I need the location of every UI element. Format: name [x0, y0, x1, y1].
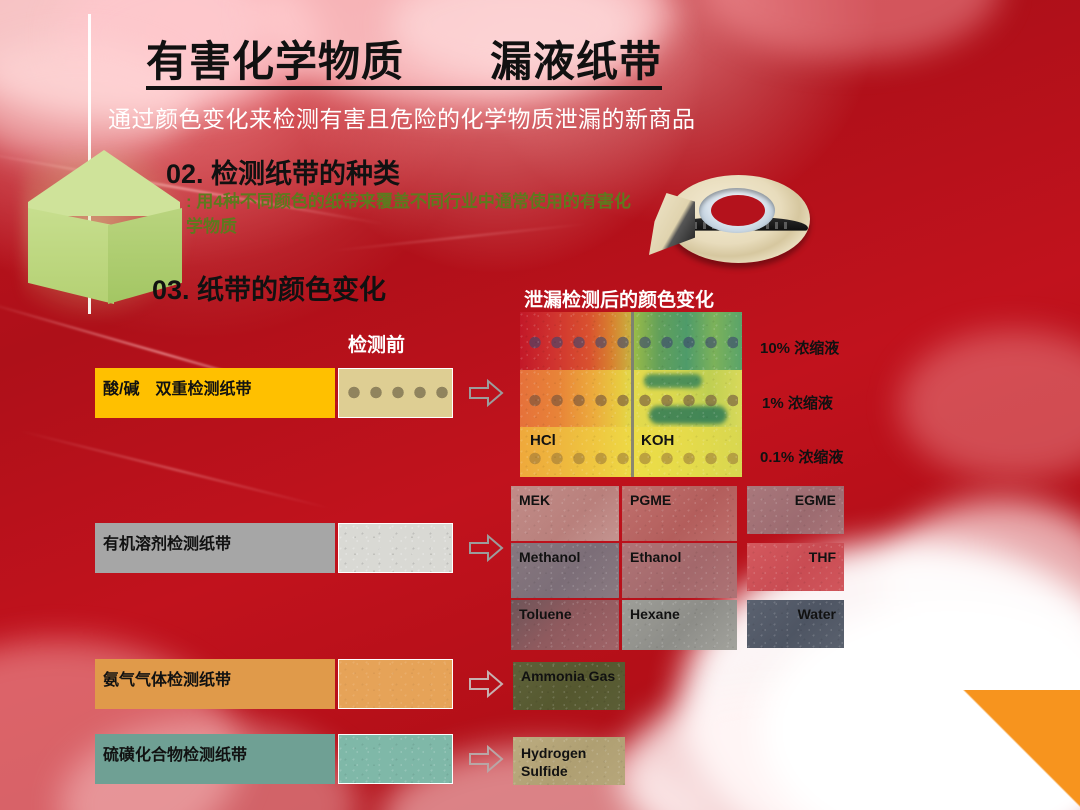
before-swatch-ammonia-gas [338, 659, 453, 709]
result-label-hydrogen-sulfide: Hydrogen Sulfide [521, 745, 586, 780]
concentration-label-10pct: 10% 浓缩液 [760, 337, 839, 358]
solvent-cell-water: Water [747, 600, 844, 648]
solvent-cell-ethanol: Ethanol [622, 543, 737, 598]
page-title: 有害化学物质 漏液纸带 [146, 40, 662, 90]
concentration-label-01pct: 0.1% 浓缩液 [760, 446, 843, 467]
section-03-heading: 03. 纸带的颜色变化 [152, 268, 386, 307]
slide-canvas: 有害化学物质 漏液纸带 通过颜色变化来检测有害且危险的化学物质泄漏的新商品 02… [0, 0, 1080, 810]
solvent-cell-egme: EGME [747, 486, 844, 534]
solvent-label: THF [809, 549, 836, 565]
concentration-label-1pct: 1% 浓缩液 [762, 392, 833, 413]
solvent-label: PGME [630, 492, 671, 508]
right-block-arrow-icon [468, 744, 504, 774]
row-label-acid-base: 酸/碱 双重检测纸带 [95, 368, 335, 418]
solvent-cell-methanol: Methanol [511, 543, 619, 598]
solvent-label: MEK [519, 492, 550, 508]
solvent-label: Water [798, 606, 836, 622]
before-swatch-organic-solvent [338, 523, 453, 573]
right-block-arrow-icon [468, 669, 504, 699]
solvent-label: Hexane [630, 606, 680, 622]
after-column-label: 泄漏检测后的颜色变化 [524, 285, 714, 312]
result-swatch-hydrogen-sulfide: Hydrogen Sulfide [513, 737, 625, 785]
solvent-cell-hexane: Hexane [622, 600, 737, 650]
row-label-ammonia-gas: 氨气气体检测纸带 [95, 659, 335, 709]
before-swatch-sulfur-compound [338, 734, 453, 784]
solvent-cell-toluene: Toluene [511, 600, 619, 650]
before-swatch-acid-base [338, 368, 453, 418]
right-block-arrow-icon [468, 533, 504, 563]
solvent-cell-mek: MEK [511, 486, 619, 541]
orange-corner-accent [960, 690, 1080, 810]
solvent-cell-thf: THF [747, 543, 844, 591]
solvent-cell-pgme: PGME [622, 486, 737, 541]
result-strip-10pct [520, 312, 742, 374]
section-02-description: : 用4种不同颜色的纸带来覆盖不同行业中通常使用的有害化学物质 [186, 190, 636, 239]
section-02-heading: 02. 检测纸带的种类 [166, 152, 400, 191]
tape-roll-photo [655, 165, 810, 275]
solvent-label: Toluene [519, 606, 572, 622]
solvent-label: Ethanol [630, 549, 681, 565]
row-label-organic-solvent: 有机溶剂检测纸带 [95, 523, 335, 573]
row-label-sulfur-compound: 硫磺化合物检测纸带 [95, 734, 335, 784]
result-label-ammonia-gas: Ammonia Gas [521, 668, 615, 684]
before-column-label: 检测前 [348, 330, 405, 357]
result-strip-1pct [520, 370, 742, 432]
right-block-arrow-icon [468, 378, 504, 408]
result-strip-01pct: HCl KOH [520, 427, 742, 477]
solvent-label: EGME [795, 492, 836, 508]
page-subtitle: 通过颜色变化来检测有害且危险的化学物质泄漏的新商品 [108, 100, 696, 134]
result-swatch-ammonia-gas: Ammonia Gas [513, 662, 625, 710]
solvent-label: Methanol [519, 549, 580, 565]
